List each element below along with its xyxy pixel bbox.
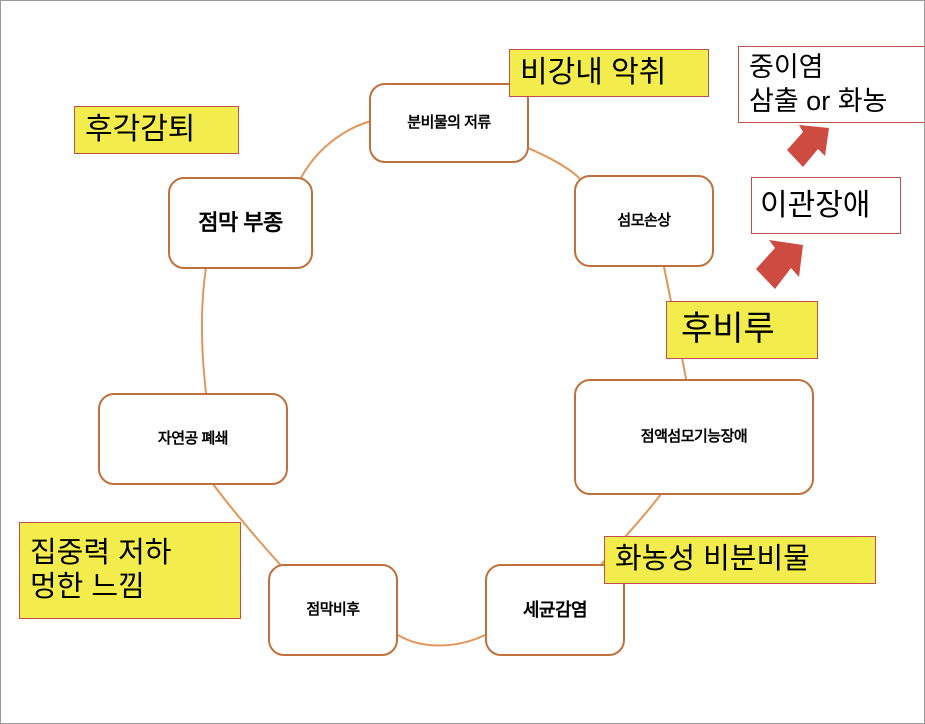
arrow-to-eustachian-icon — [751, 237, 817, 297]
node-label: 점막 부종 — [198, 210, 283, 235]
outcome-label: 이관장애 — [760, 187, 870, 225]
highlight-concentration-decline[interactable]: 집중력 저하 멍한 느낌 — [19, 522, 241, 619]
highlight-label: 화농성 비분비물 — [615, 543, 810, 576]
node-label: 세균감염 — [523, 600, 587, 621]
diagram-canvas: 분비물의 저류 섬모손상 점액섬모기능장애 세균감염 점막비후 자연공 폐쇄 점… — [0, 0, 925, 724]
outcome-box-eustachian-dysfunction[interactable]: 이관장애 — [751, 177, 901, 234]
node-label: 점막비후 — [306, 601, 359, 618]
highlight-label: 후비루 — [681, 310, 775, 349]
node-ostium-obstruction[interactable]: 자연공 폐쇄 — [98, 393, 288, 485]
node-label: 자연공 폐쇄 — [158, 430, 228, 447]
node-label: 섬모손상 — [617, 212, 670, 229]
node-mucociliary-dysfunction[interactable]: 점액섬모기능장애 — [574, 379, 814, 495]
highlight-label: 집중력 저하 멍한 느낌 — [30, 537, 171, 604]
node-cilia-damage[interactable]: 섬모손상 — [574, 175, 714, 267]
node-secretion-retention[interactable]: 분비물의 저류 — [369, 83, 529, 163]
highlight-purulent-discharge[interactable]: 화농성 비분비물 — [604, 536, 876, 584]
highlight-nasal-malodor[interactable]: 비강내 악취 — [509, 49, 709, 97]
outcome-label: 중이염 삼출 or 화농 — [749, 51, 887, 119]
node-mucosal-edema[interactable]: 점막 부종 — [168, 177, 313, 269]
node-label: 점액섬모기능장애 — [641, 428, 747, 445]
highlight-label: 후각감퇴 — [85, 113, 195, 148]
node-mucosal-thickening[interactable]: 점막비후 — [268, 564, 398, 656]
arrow-to-otitis-media-icon — [781, 122, 843, 172]
outcome-box-otitis-media[interactable]: 중이염 삼출 or 화농 — [738, 46, 925, 123]
node-label: 분비물의 저류 — [407, 114, 490, 131]
highlight-hyposmia[interactable]: 후각감퇴 — [74, 106, 239, 154]
highlight-postnasal-drip[interactable]: 후비루 — [666, 301, 818, 359]
highlight-label: 비강내 악취 — [520, 56, 666, 91]
